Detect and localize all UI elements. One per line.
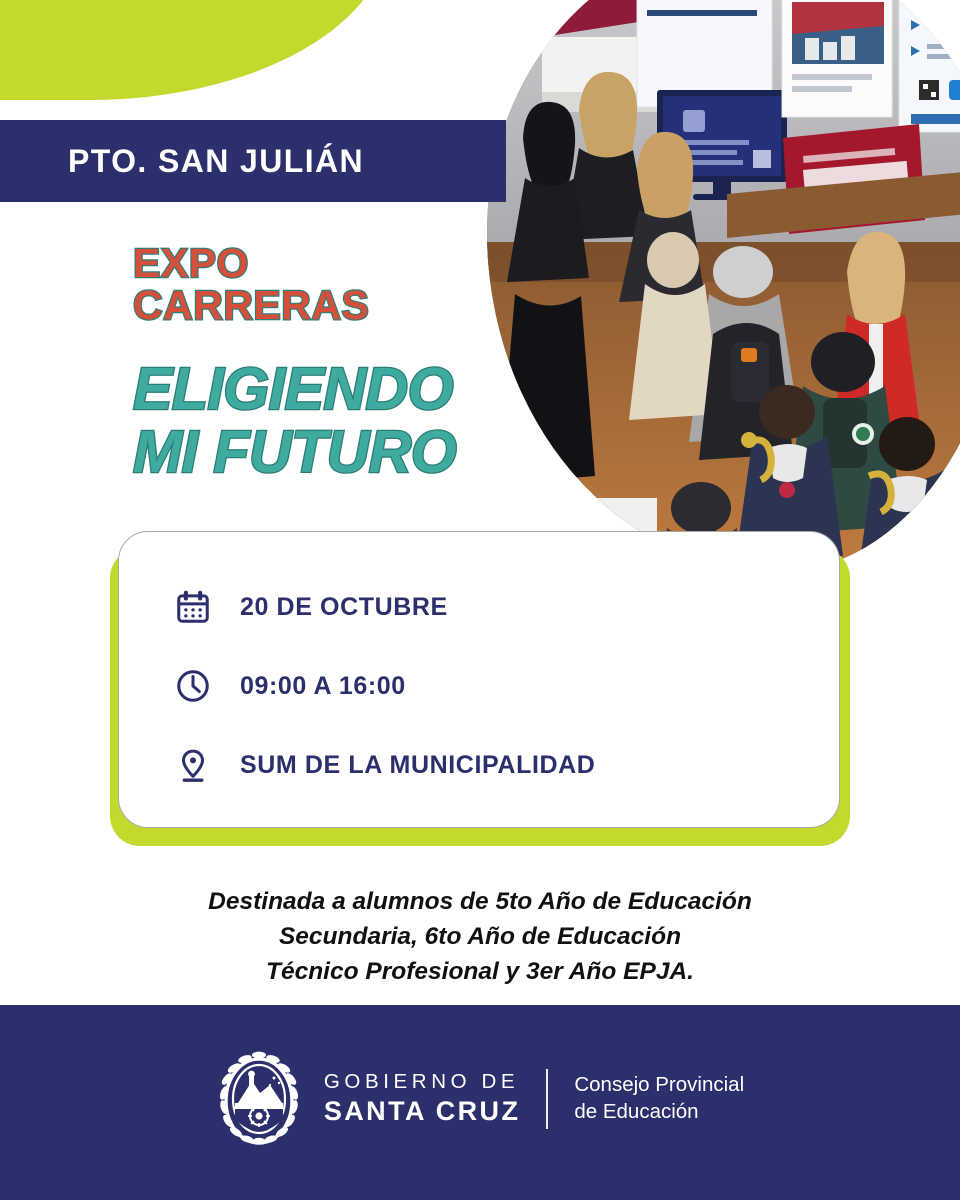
audience-line-1: Destinada a alumnos de 5to Año de Educac… [80, 885, 880, 920]
audience-note: Destinada a alumnos de 5to Año de Educac… [80, 885, 880, 989]
audience-line-3: Técnico Profesional y 3er Año EPJA. [80, 955, 880, 990]
detail-place-text: SUM DE LA MUNICIPALIDAD [240, 751, 595, 780]
city-name-text: PTO. SAN JULIÁN [0, 143, 364, 180]
detail-date-text: 20 DE OCTUBRE [240, 593, 448, 622]
detail-row-date: 20 DE OCTUBRE [169, 572, 839, 642]
headline-block: EXPO CARRERAS ELIGIENDO MI FUTURO [133, 243, 553, 481]
footer-bar: GOBIERNO DE SANTA CRUZ Consejo Provincia… [0, 1005, 960, 1200]
expo-label-line2: CARRERAS [133, 285, 553, 325]
council-line-1: Consejo Provincial [574, 1072, 744, 1099]
government-wordmark: GOBIERNO DE SANTA CRUZ [324, 1072, 520, 1125]
council-line-2: de Educación [574, 1099, 744, 1126]
gov-top-text: GOBIERNO DE [324, 1072, 520, 1093]
footer-logo-lockup: GOBIERNO DE SANTA CRUZ Consejo Provincia… [216, 1049, 744, 1149]
detail-row-place: SUM DE LA MUNICIPALIDAD [169, 730, 839, 800]
calendar-icon [169, 588, 217, 626]
map-pin-icon [169, 746, 217, 784]
detail-row-time: 09:00 A 16:00 [169, 651, 839, 721]
council-wordmark: Consejo Provincial de Educación [574, 1072, 744, 1125]
clock-icon [169, 667, 217, 705]
main-title-line2: MI FUTURO [133, 424, 553, 481]
event-details-card: 20 DE OCTUBRE 09:00 A 16:00 SUM DE LA MU… [118, 531, 840, 828]
photo-illustration [487, 0, 960, 572]
career-fair-photo [487, 0, 960, 572]
logo-divider [546, 1069, 548, 1129]
poster-canvas: PTO. SAN JULIÁN EXPO CARRERAS ELIGIENDO … [0, 0, 960, 1200]
gov-bottom-text: SANTA CRUZ [324, 1098, 520, 1125]
main-title-block: ELIGIENDO MI FUTURO [133, 361, 553, 480]
santa-cruz-coat-of-arms-icon [216, 1049, 302, 1149]
expo-label-line1: EXPO [133, 243, 553, 283]
audience-line-2: Secundaria, 6to Año de Educación [80, 920, 880, 955]
detail-time-text: 09:00 A 16:00 [240, 672, 406, 701]
lime-blob-decoration [0, 0, 390, 100]
city-band: PTO. SAN JULIÁN [0, 120, 506, 202]
main-title-line1: ELIGIENDO [133, 361, 553, 418]
